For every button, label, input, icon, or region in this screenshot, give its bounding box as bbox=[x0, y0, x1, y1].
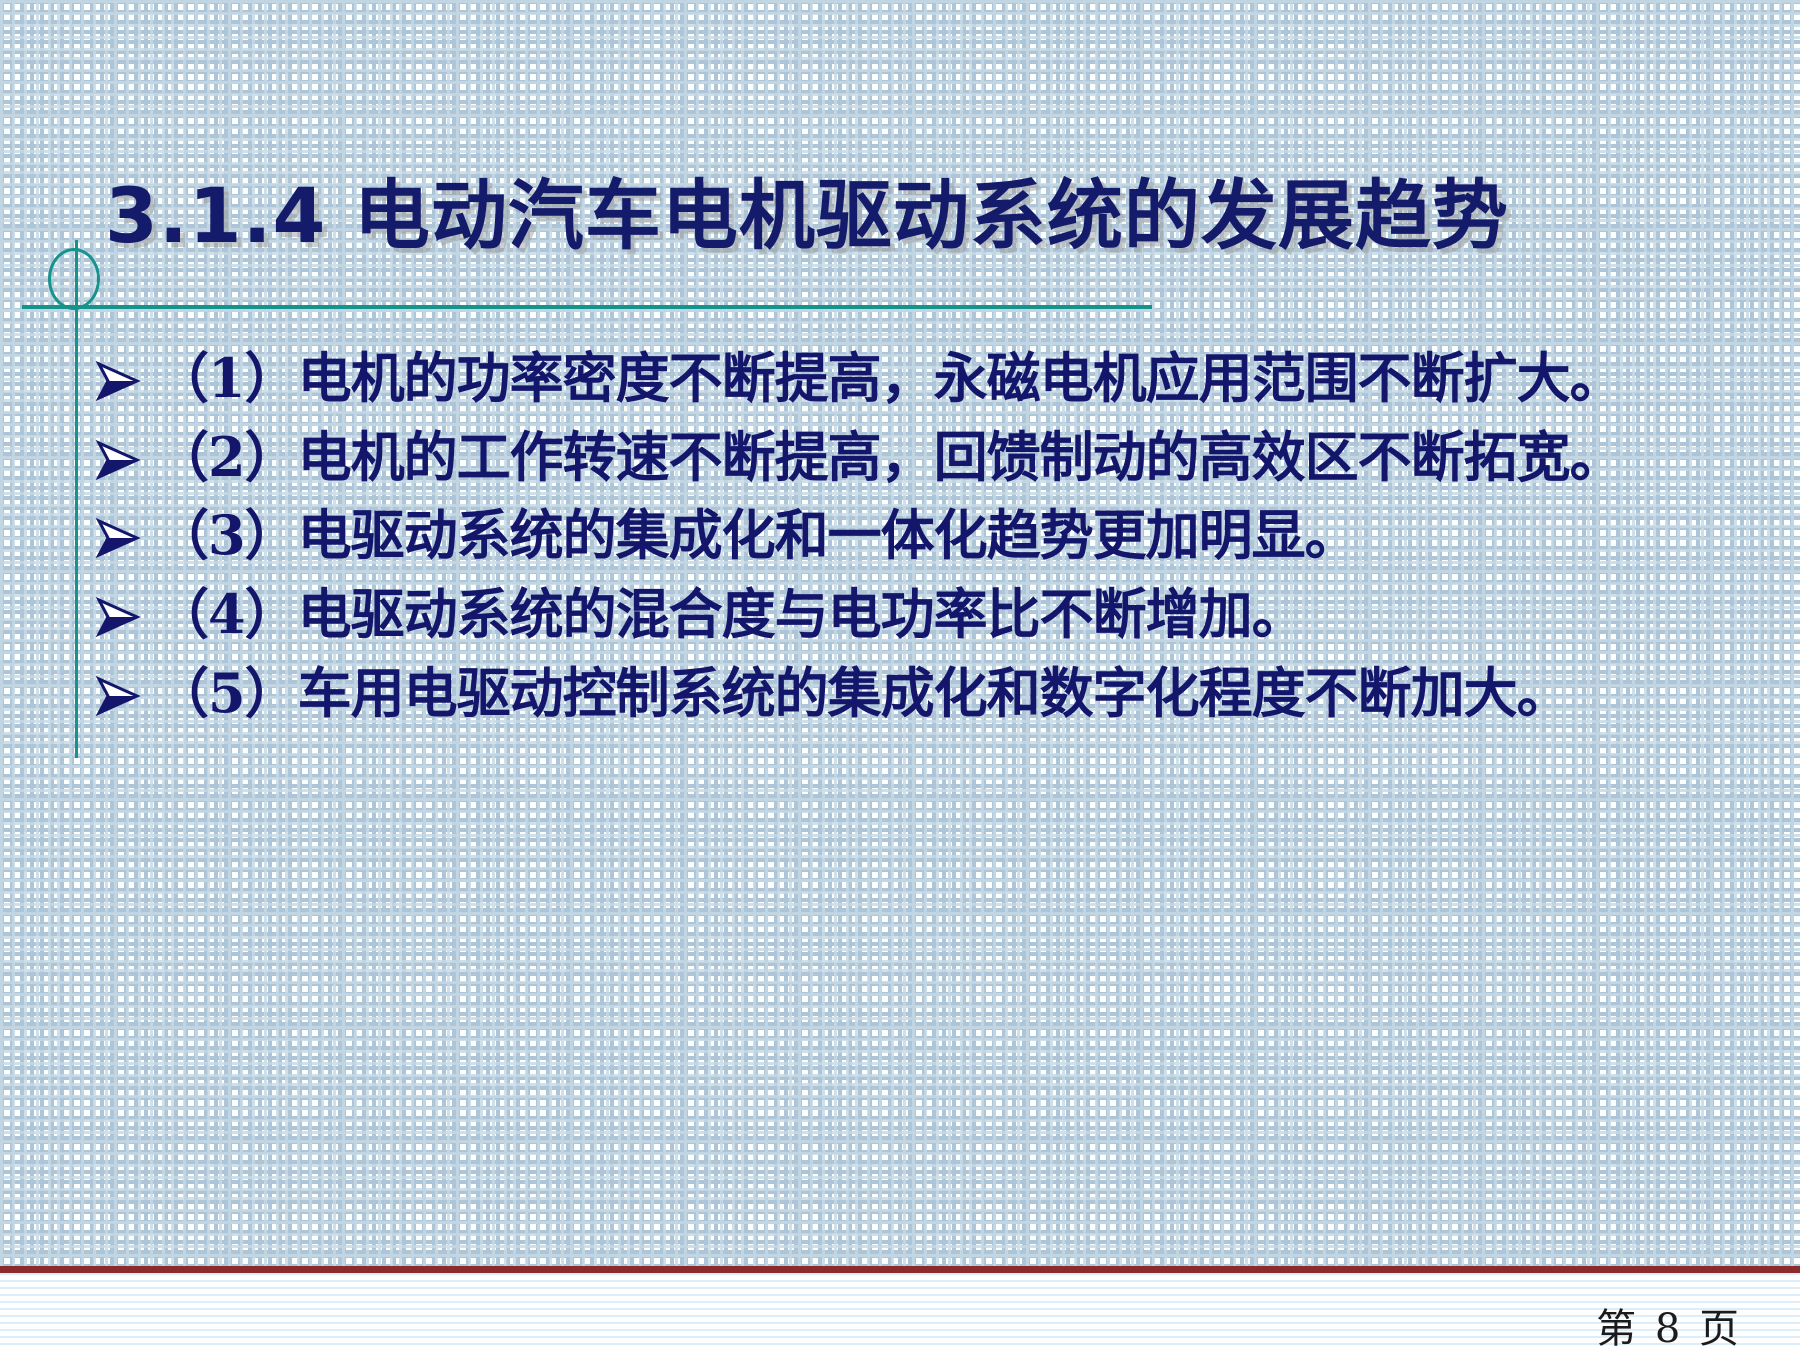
list-item-text: （2）电机的工作转速不断提高，回馈制动的高效区不断拓宽。 bbox=[155, 419, 1785, 496]
decorative-vertical-line bbox=[75, 240, 78, 758]
arrow-bullet-icon bbox=[95, 340, 155, 404]
list-item: （3）电驱动系统的集成化和一体化趋势更加明显。 bbox=[95, 497, 1785, 574]
list-item-text: （1）电机的功率密度不断提高，永磁电机应用范围不断扩大。 bbox=[155, 340, 1785, 417]
page-title: 3.1.4 电动汽车电机驱动系统的发展趋势 bbox=[105, 178, 1745, 254]
list-item: （2）电机的工作转速不断提高，回馈制动的高效区不断拓宽。 bbox=[95, 419, 1785, 496]
bullet-list: （1）电机的功率密度不断提高，永磁电机应用范围不断扩大。 （2）电机的工作转速不… bbox=[95, 340, 1785, 733]
arrow-bullet-icon bbox=[95, 576, 155, 640]
list-item: （5）车用电驱动控制系统的集成化和数字化程度不断加大。 bbox=[95, 655, 1785, 732]
presentation-slide: 3.1.4 电动汽车电机驱动系统的发展趋势 （1）电机的功率密度不断提高，永磁电… bbox=[0, 0, 1800, 1350]
list-item-text: （5）车用电驱动控制系统的集成化和数字化程度不断加大。 bbox=[155, 655, 1785, 732]
arrow-bullet-icon bbox=[95, 419, 155, 483]
footer-divider bbox=[0, 1266, 1800, 1273]
list-item-text: （3）电驱动系统的集成化和一体化趋势更加明显。 bbox=[155, 497, 1785, 574]
page-number: 第 8 页 bbox=[1596, 1296, 1742, 1350]
footer-band bbox=[0, 1273, 1800, 1350]
list-item: （4）电驱动系统的混合度与电功率比不断增加。 bbox=[95, 576, 1785, 653]
list-item-text: （4）电驱动系统的混合度与电功率比不断增加。 bbox=[155, 576, 1785, 653]
decorative-circle-icon bbox=[48, 248, 100, 310]
arrow-bullet-icon bbox=[95, 655, 155, 719]
arrow-bullet-icon bbox=[95, 497, 155, 561]
list-item: （1）电机的功率密度不断提高，永磁电机应用范围不断扩大。 bbox=[95, 340, 1785, 417]
title-underline-rule bbox=[22, 305, 1152, 309]
